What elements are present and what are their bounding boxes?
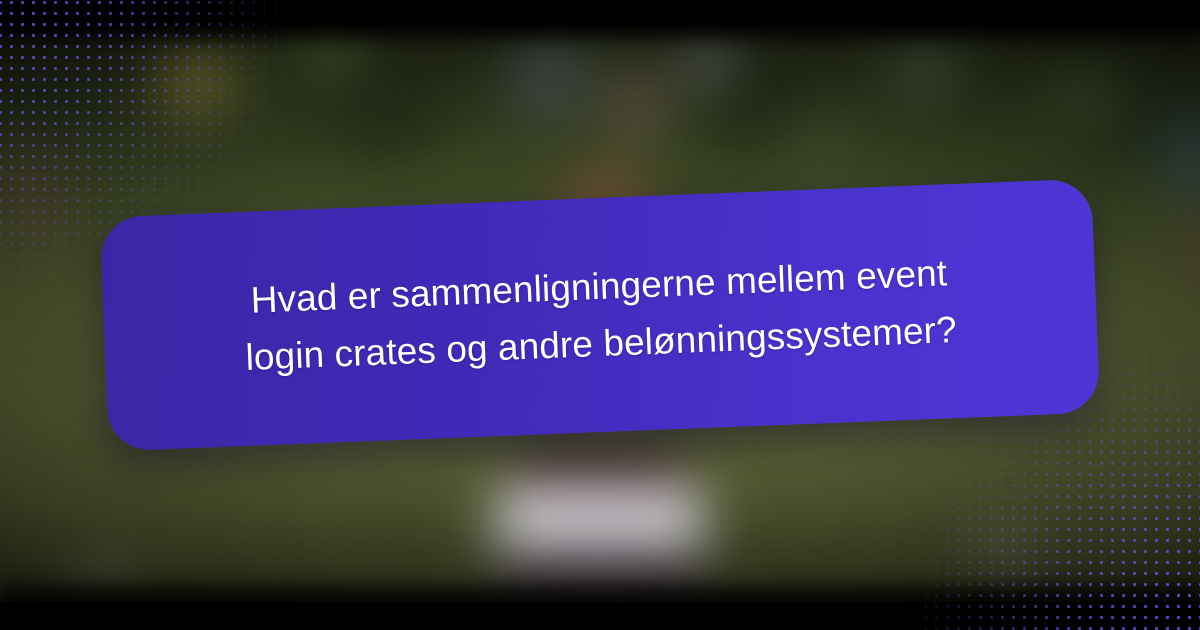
letterbox-bar-bottom [0,602,1200,630]
headline-card-content: Hvad er sammenligningerne mellem event l… [100,179,1100,452]
page-title: Hvad er sammenligningerne mellem event l… [242,244,958,386]
headline-card: Hvad er sammenligningerne mellem event l… [104,198,1096,432]
share-card-canvas: Hvad er sammenligningerne mellem event l… [0,0,1200,630]
letterbox-bar-top [0,0,1200,26]
